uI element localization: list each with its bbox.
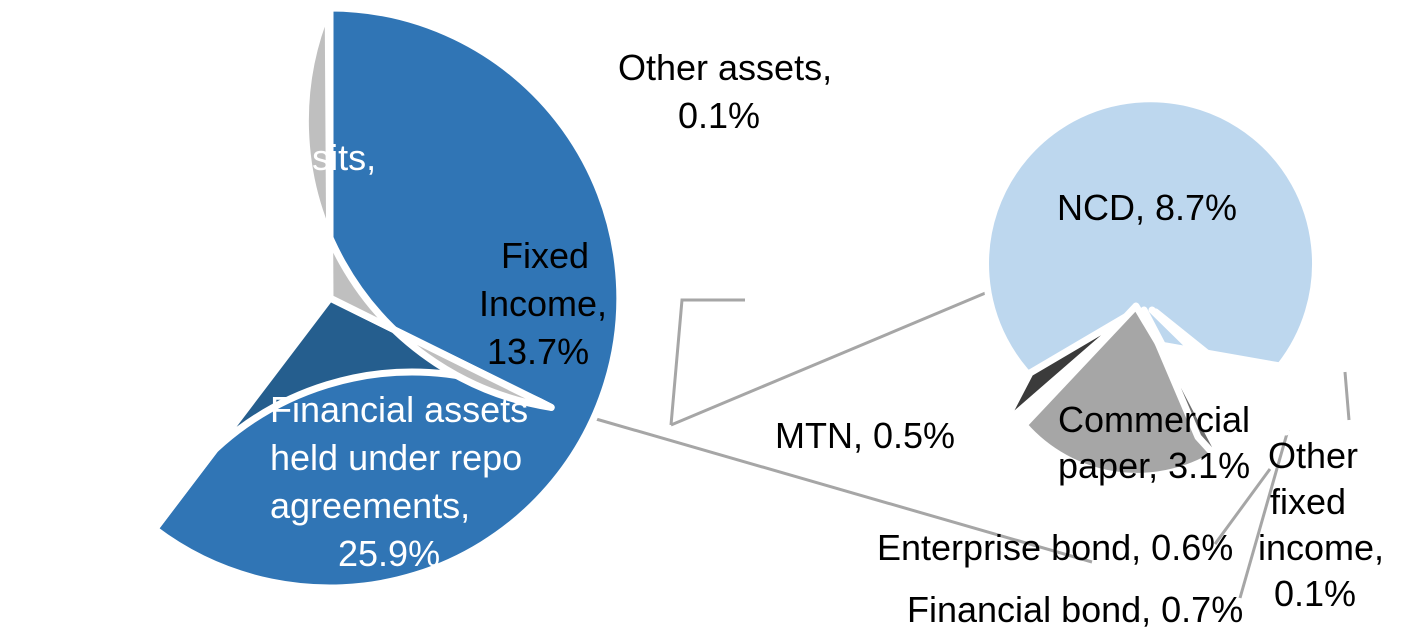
label-repo-line3: agreements, <box>270 485 470 526</box>
label-fixed-income-line3: 13.7% <box>487 331 589 372</box>
label-other-assets-line2: 0.1% <box>678 95 760 136</box>
label-fixed-income-line1: Fixed <box>501 235 589 276</box>
label-other-fixed-income-line2: fixed <box>1270 481 1346 522</box>
label-other-assets-line1: Other assets, <box>618 47 832 88</box>
label-enterprise-bond: Enterprise bond, 0.6% <box>877 527 1233 568</box>
label-bank-deposits-line1: Bank deposits, <box>140 137 376 178</box>
label-mtn: MTN, 0.5% <box>775 415 955 456</box>
label-repo-line1: Financial assets <box>270 389 528 430</box>
label-commercial-paper-line1: Commercial <box>1058 399 1250 440</box>
label-bank-deposits-line2: 60.3% <box>140 185 242 226</box>
label-fixed-income-line2: Income, <box>479 283 607 324</box>
label-repo-line2: held under repo <box>270 437 522 478</box>
pie-of-pie-chart: Bank deposits, 60.3% Financial assets he… <box>0 0 1404 644</box>
label-other-fixed-income-line4: 0.1% <box>1274 573 1356 614</box>
label-repo-line4: 25.9% <box>338 533 440 574</box>
leader-line-other-assets <box>671 300 745 425</box>
label-other-fixed-income-line3: income, <box>1258 527 1384 568</box>
label-commercial-paper-line2: paper, 3.1% <box>1058 445 1250 486</box>
chart-canvas: Bank deposits, 60.3% Financial assets he… <box>0 0 1404 644</box>
label-financial-bond: Financial bond, 0.7% <box>907 589 1243 630</box>
label-other-fixed-income-line1: Other <box>1268 435 1358 476</box>
label-ncd: NCD, 8.7% <box>1057 187 1237 228</box>
leader-line-other-fixed-income <box>1345 372 1349 420</box>
